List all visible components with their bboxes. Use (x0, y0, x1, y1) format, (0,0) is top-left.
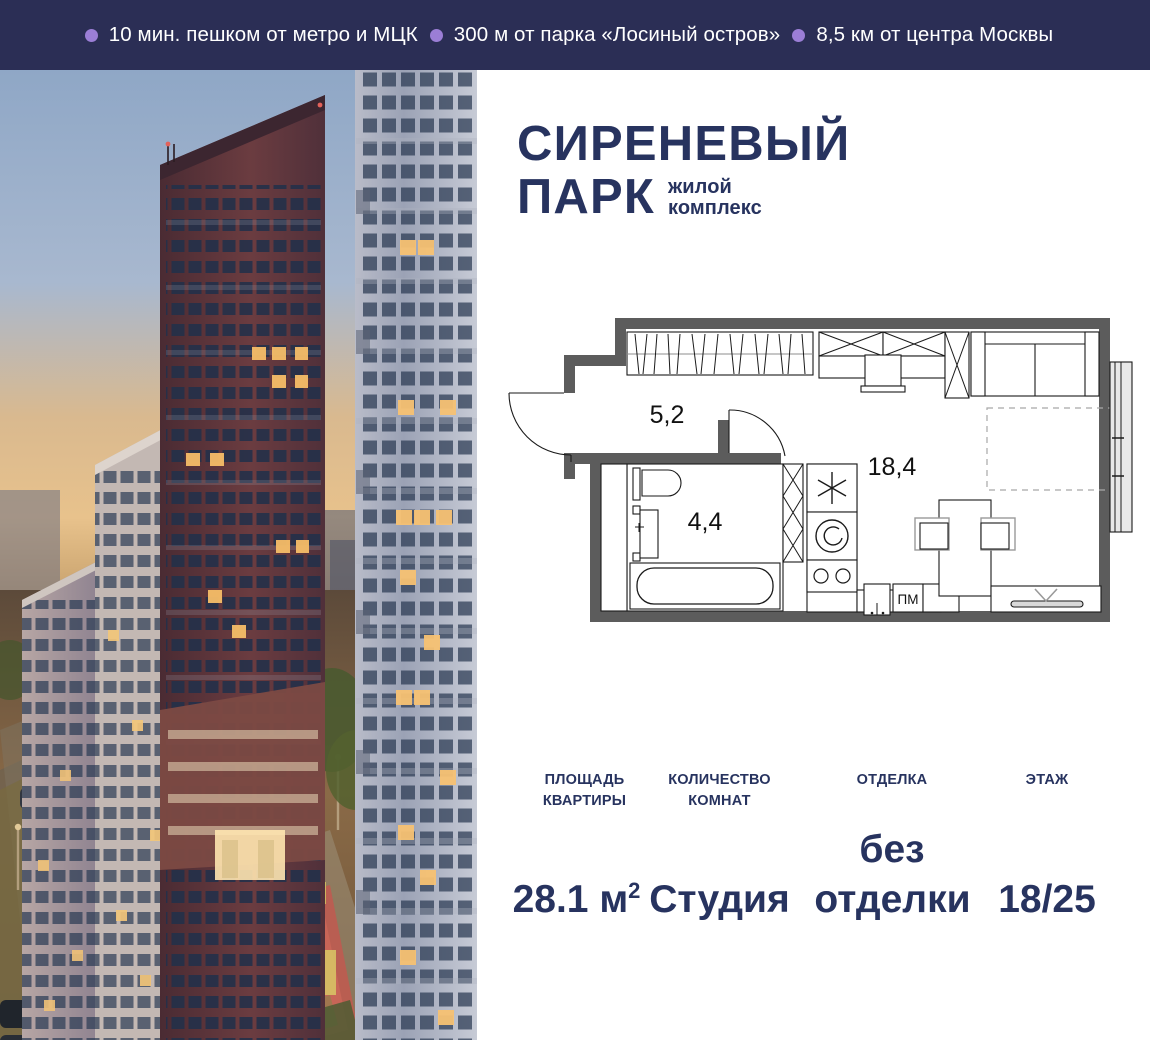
room-label-bathroom: 4,4 (688, 508, 723, 536)
logo-subtitle: жилой комплекс (668, 177, 762, 219)
dining-table-icon (915, 500, 1015, 596)
benefit-item-metro: 10 мин. пешком от метро и МЦК (85, 23, 430, 47)
logo-subtitle-line-2: комплекс (668, 198, 762, 219)
washing-machine-icon (807, 512, 857, 560)
top-benefits-bar: 10 мин. пешком от метро и МЦК 300 м от п… (0, 0, 1150, 70)
bullet-dot-icon (430, 29, 443, 42)
chair-icon (861, 355, 905, 392)
logo-subtitle-line-1: жилой (668, 177, 762, 198)
benefit-item-park: 300 м от парка «Лосиный остров» (430, 23, 793, 47)
chair-icon (915, 518, 949, 550)
sofa-icon (971, 332, 1099, 396)
bathroom-fixtures (601, 464, 803, 611)
bullet-dot-icon (792, 29, 805, 42)
apartment-card: 10 мин. пешком от метро и МЦК 300 м от п… (0, 0, 1150, 1040)
spec-values-row: без 28.1 м2 Студия отделки 18/25 (477, 770, 1150, 970)
floor-plan[interactable]: 5,2 4,4 18,4 ПМ (487, 310, 1142, 655)
spec-value-floor: 18/25 (982, 878, 1112, 921)
tv-stand-icon (991, 586, 1101, 612)
benefit-text-metro: 10 мин. пешком от метро и МЦК (109, 23, 418, 47)
project-logo[interactable]: СИРЕНЕВЫЙ ПАРК жилой комплекс (517, 120, 850, 222)
benefit-item-center: 8,5 км от центра Москвы (792, 23, 1065, 47)
bathtub-icon (630, 563, 780, 609)
logo-line-1: СИРЕНЕВЫЙ (517, 120, 850, 169)
bullet-dot-icon (85, 29, 98, 42)
entry-door-icon (509, 393, 571, 462)
rug-outline (987, 408, 1115, 490)
spec-value-finishing-line-1: без (817, 828, 967, 871)
photo-illustration (0, 70, 477, 1040)
chair-icon (981, 518, 1015, 550)
spec-value-room-count: Студия (632, 878, 807, 921)
balcony-door-icon (1110, 362, 1132, 532)
apartment-specs: ПЛОЩАДЬ КВАРТИРЫ КОЛИЧЕСТВО КОМНАТ ОТДЕЛ… (477, 770, 1150, 970)
benefit-text-center: 8,5 км от центра Москвы (816, 23, 1053, 47)
interior-door-icon (729, 410, 785, 456)
room-label-living: 18,4 (868, 453, 917, 481)
benefit-text-park: 300 м от парка «Лосиный остров» (454, 23, 781, 47)
bathroom-cabinet-icon (783, 464, 803, 562)
fridge-icon (864, 584, 890, 615)
wardrobe-icon (627, 332, 813, 375)
top-benefits-list: 10 мин. пешком от метро и МЦК 300 м от п… (85, 23, 1066, 47)
cooktop-icon (807, 560, 857, 592)
room-label-hall: 5,2 (650, 401, 685, 429)
toilet-icon (633, 468, 681, 500)
spec-value-finishing-line-2: отделки (810, 878, 975, 921)
logo-line-2: ПАРК (517, 173, 655, 222)
appliance-label-dishwasher: ПМ (898, 592, 919, 607)
floor-plan-drawing: 5,2 4,4 18,4 ПМ (487, 310, 1142, 655)
extractor-hood-icon (807, 464, 857, 512)
residential-complex-photo (0, 70, 477, 1040)
apartment-info-panel: СИРЕНЕВЫЙ ПАРК жилой комплекс (477, 70, 1150, 1040)
